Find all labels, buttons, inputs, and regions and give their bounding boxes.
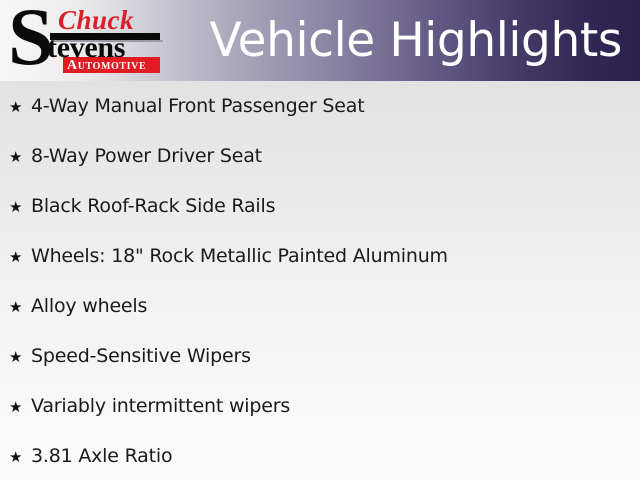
- star-icon: ★: [9, 448, 31, 468]
- page-header: S Chuck tevens Automotive Vehicle Highli…: [0, 0, 640, 81]
- list-item: ★ 4-Way Manual Front Passenger Seat: [0, 95, 640, 145]
- list-item-label: Wheels: 18" Rock Metallic Painted Alumin…: [31, 245, 448, 267]
- vehicle-highlights-page: S Chuck tevens Automotive Vehicle Highli…: [0, 0, 640, 480]
- list-item-label: Black Roof-Rack Side Rails: [31, 195, 275, 217]
- star-icon: ★: [9, 248, 31, 268]
- list-item: ★ 8-Way Power Driver Seat: [0, 145, 640, 195]
- list-item: ★ Wheels: 18" Rock Metallic Painted Alum…: [0, 245, 640, 295]
- list-item-label: 8-Way Power Driver Seat: [31, 145, 262, 167]
- logo-initial-letter: S: [8, 0, 54, 78]
- list-item: ★ 3.81 Axle Ratio: [0, 445, 640, 480]
- star-icon: ★: [9, 348, 31, 368]
- page-title: Vehicle Highlights: [210, 4, 623, 78]
- star-icon: ★: [9, 148, 31, 168]
- list-item: ★ Variably intermittent wipers: [0, 395, 640, 445]
- list-item: ★ Black Roof-Rack Side Rails: [0, 195, 640, 245]
- list-item: ★ Speed-Sensitive Wipers: [0, 345, 640, 395]
- star-icon: ★: [9, 98, 31, 118]
- list-item-label: 4-Way Manual Front Passenger Seat: [31, 95, 364, 117]
- star-icon: ★: [9, 398, 31, 418]
- list-item-label: Alloy wheels: [31, 295, 147, 317]
- list-item: ★ Alloy wheels: [0, 295, 640, 345]
- dealer-logo[interactable]: S Chuck tevens Automotive: [6, 3, 176, 78]
- logo-tagline: Automotive: [67, 58, 146, 73]
- logo-brand-first-word: Chuck: [58, 7, 134, 34]
- list-item-label: Speed-Sensitive Wipers: [31, 345, 251, 367]
- list-item-label: 3.81 Axle Ratio: [31, 445, 172, 467]
- list-item-label: Variably intermittent wipers: [31, 395, 290, 417]
- star-icon: ★: [9, 298, 31, 318]
- vehicle-highlights-list: ★ 4-Way Manual Front Passenger Seat ★ 8-…: [0, 81, 640, 480]
- star-icon: ★: [9, 198, 31, 218]
